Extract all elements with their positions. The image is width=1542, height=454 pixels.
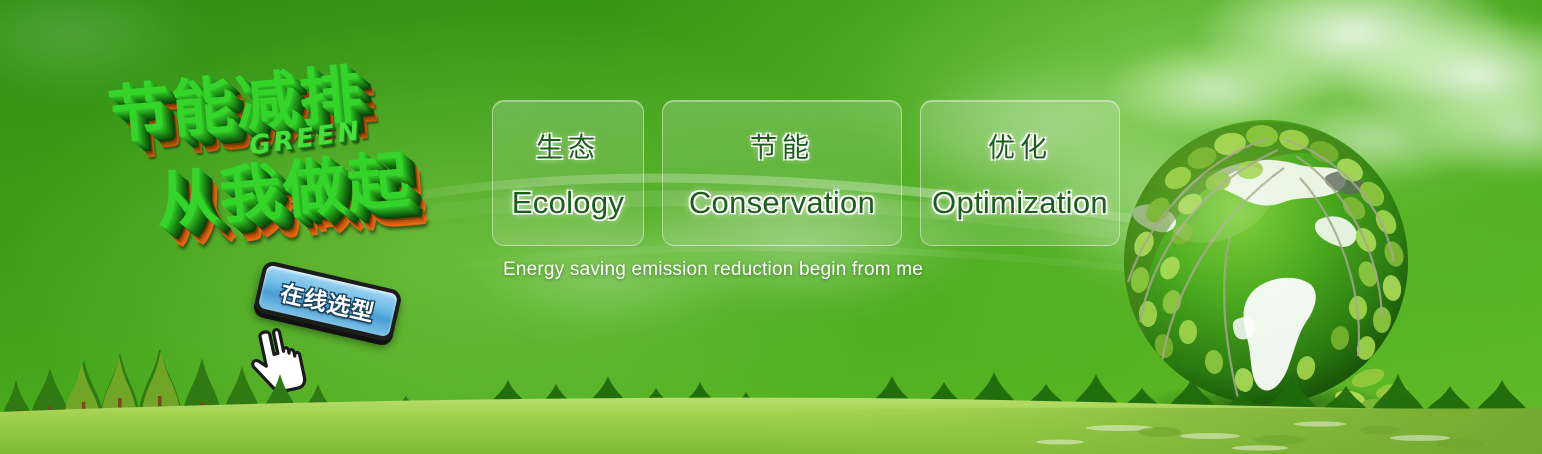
feature-card-conservation[interactable]: 节能 Conservation — [662, 100, 902, 246]
feature-card-ecology[interactable]: 生态 Ecology — [492, 100, 644, 246]
grass-field-icon — [0, 394, 1542, 454]
headline-3d: 节能减排 GREEN 从我做起 — [95, 25, 513, 279]
feature-card-en-label: Ecology — [512, 185, 624, 221]
online-selection-label: 在线选型 — [277, 274, 378, 329]
feature-card-en-label: Conservation — [689, 185, 875, 221]
cloud-icon — [1420, 86, 1542, 176]
feature-card-cn-label: 节能 — [750, 126, 814, 165]
feature-card-en-label: Optimization — [932, 185, 1108, 221]
feature-card-cn-label: 优化 — [988, 126, 1052, 165]
tagline: Energy saving emission reduction begin f… — [503, 259, 923, 281]
eco-banner: 节能减排 GREEN 从我做起 在线选型 生态 Ecology 节能 Conse… — [0, 0, 1542, 454]
cloud-icon — [1200, 0, 1510, 101]
feature-card-cn-label: 生态 — [536, 126, 600, 165]
feature-card-optimization[interactable]: 优化 Optimization — [920, 100, 1120, 246]
